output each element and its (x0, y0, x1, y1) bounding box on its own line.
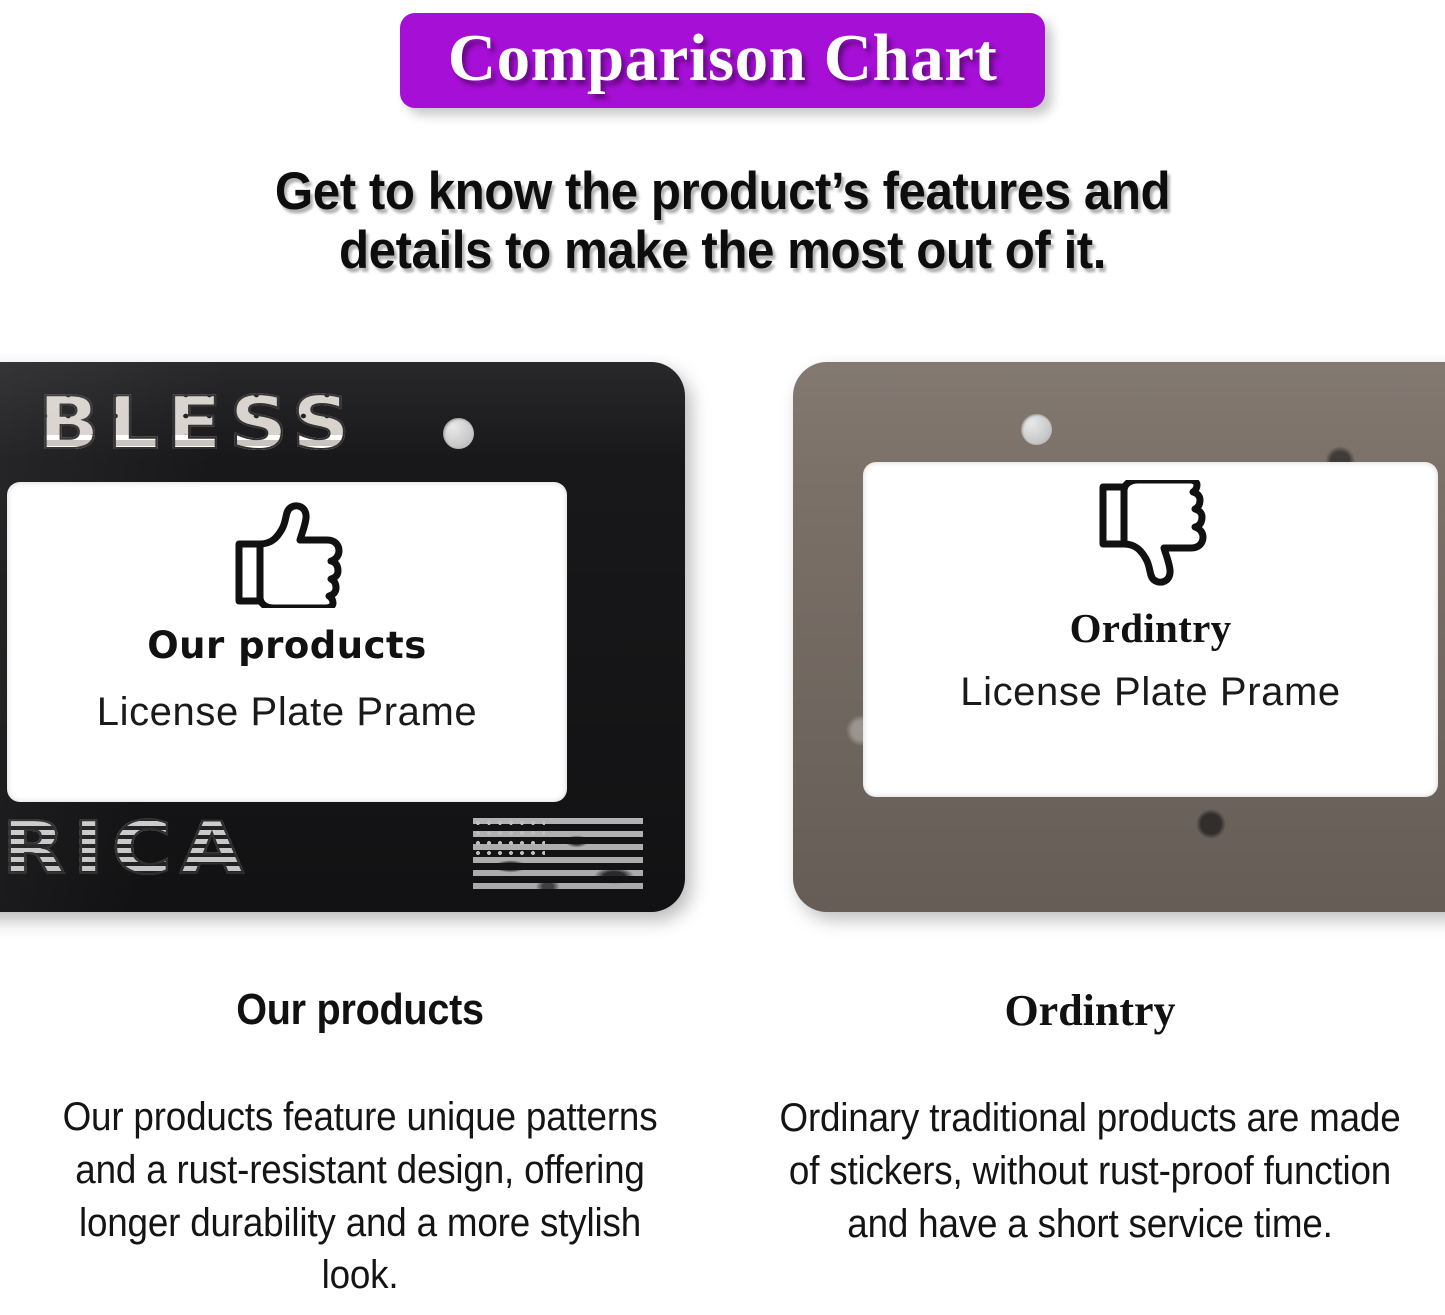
subtitle-line-1: Get to know the product’s features and (134, 162, 1310, 221)
our-product-plate-window: Our products License Plate Prame (7, 482, 567, 802)
our-product-inner-subtitle: License Plate Prame (7, 690, 567, 735)
comparison-description-row: Our products Our products feature unique… (0, 985, 1445, 1315)
subtitle-line-2: details to make the most out of it. (134, 221, 1310, 280)
title-banner-wrap: Comparison Chart (0, 13, 1445, 108)
our-product-heading: Our products (45, 985, 675, 1035)
frame-top-text: GOD BLESS (0, 387, 358, 459)
mounting-hole (443, 418, 474, 449)
ordinary-product-plate-window: Ordintry License Plate Prame (863, 462, 1438, 797)
american-flag-graphic (473, 818, 643, 896)
ordinary-product-inner-title: Ordintry (863, 604, 1438, 652)
our-product-frame-image: GOD BLESS AMERICA Our products License P… (0, 362, 685, 912)
ordinary-product-heading: Ordintry (740, 985, 1440, 1036)
our-product-inner-title: Our products (7, 624, 567, 667)
mounting-hole (1021, 414, 1052, 445)
our-product-description: Our products feature unique patterns and… (38, 1091, 682, 1302)
thumbs-up-icon (227, 500, 347, 608)
subtitle: Get to know the product’s features and d… (134, 162, 1310, 281)
title-banner: Comparison Chart (400, 13, 1046, 108)
ordinary-product-column: Ordintry Ordinary traditional products a… (740, 985, 1440, 1250)
page-title: Comparison Chart (448, 22, 998, 94)
product-image-row: GOD BLESS AMERICA Our products License P… (0, 340, 1445, 930)
ordinary-product-description: Ordinary traditional products are made o… (768, 1092, 1412, 1250)
thumbs-down-icon (1091, 480, 1211, 588)
frame-bottom-text: AMERICA (0, 812, 252, 884)
ordinary-product-frame-image: Ordintry License Plate Prame (793, 362, 1445, 912)
ordinary-product-inner-subtitle: License Plate Prame (863, 670, 1438, 715)
our-product-column: Our products Our products feature unique… (10, 985, 710, 1302)
